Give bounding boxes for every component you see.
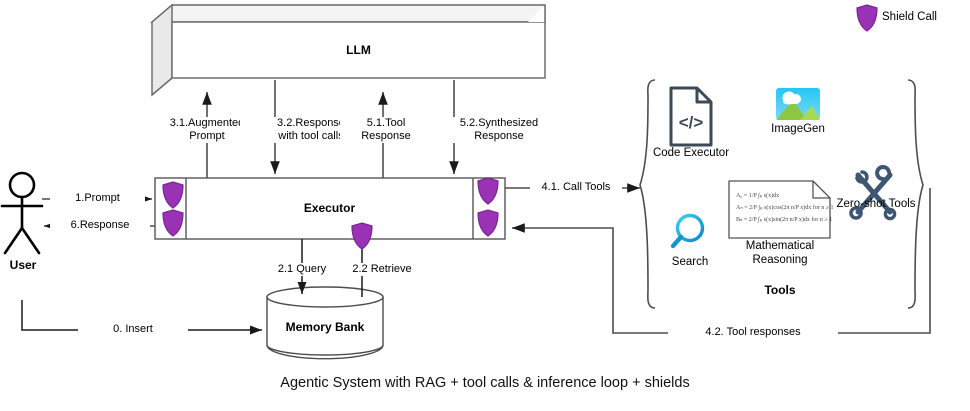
edge-label-41-call-tools: 4.1. Call Tools: [530, 181, 622, 194]
edge-label-1-prompt: 1.Prompt: [50, 192, 145, 205]
edge-label-42-tool-responses: 4.2. Tool responses: [668, 326, 838, 339]
edge-label-52-synthesized-response: 5.2.Synthesized Response: [429, 117, 569, 143]
edge-label-22-retrieve: 2.2 Retrieve: [334, 263, 430, 276]
edge-label-6-response: 6.Response: [50, 219, 150, 232]
svg-text:</>: </>: [679, 113, 704, 132]
magnifier-icon: [673, 216, 703, 247]
llm-label: LLM: [172, 43, 545, 57]
shield-icon-memory: [352, 223, 372, 249]
formula-document-icon: A₀ = 1/P ∫ₚ s(x)dx Aₙ = 2/P ∫ₚ s(x)cos(2…: [729, 181, 834, 238]
tool-label-code-executor[interactable]: Code Executor: [641, 147, 741, 161]
code-document-icon: </>: [671, 88, 711, 145]
tool-label-imagegen[interactable]: ImageGen: [752, 123, 844, 137]
diagram-vector-layer: </> A₀ = 1/P ∫ₚ s(x)dx Aₙ = 2/P ∫ₚ: [0, 0, 970, 411]
image-picture-icon: [776, 88, 820, 120]
tool-label-math-reasoning[interactable]: Mathematical Reasoning: [722, 240, 838, 267]
user-actor[interactable]: [2, 173, 42, 253]
tool-label-zero-shot-tools[interactable]: Zero-shot Tools: [836, 198, 916, 212]
user-label: User: [0, 258, 46, 272]
shield-icon-legend: [857, 5, 877, 31]
edge-label-21-query: 2.1 Query: [258, 263, 346, 276]
edge-label-51-tool-response: 5.1.Tool Response: [340, 117, 432, 143]
memory-bank-label: Memory Bank: [267, 320, 383, 334]
diagram-canvas: </> A₀ = 1/P ∫ₚ s(x)dx Aₙ = 2/P ∫ₚ: [0, 0, 970, 411]
svg-text:Bₙ = 2/P ∫ₚ s(x)sin(2π n/P x)d: Bₙ = 2/P ∫ₚ s(x)sin(2π n/P x)dx for n ≥ …: [736, 216, 832, 223]
edge-label-0-insert: 0. Insert: [78, 323, 188, 336]
legend-shield-label: Shield Call: [882, 11, 964, 24]
tools-group-label: Tools: [720, 283, 840, 297]
tool-label-search[interactable]: Search: [654, 256, 726, 270]
svg-text:A₀ = 1/P ∫ₚ s(x)dx: A₀ = 1/P ∫ₚ s(x)dx: [736, 192, 779, 199]
svg-text:Aₙ = 2/P ∫ₚ s(x)cos(2π n/P x)d: Aₙ = 2/P ∫ₚ s(x)cos(2π n/P x)dx for n ≥ …: [736, 204, 834, 211]
diagram-caption: Agentic System with RAG + tool calls & i…: [0, 375, 970, 391]
executor-label: Executor: [186, 201, 473, 215]
